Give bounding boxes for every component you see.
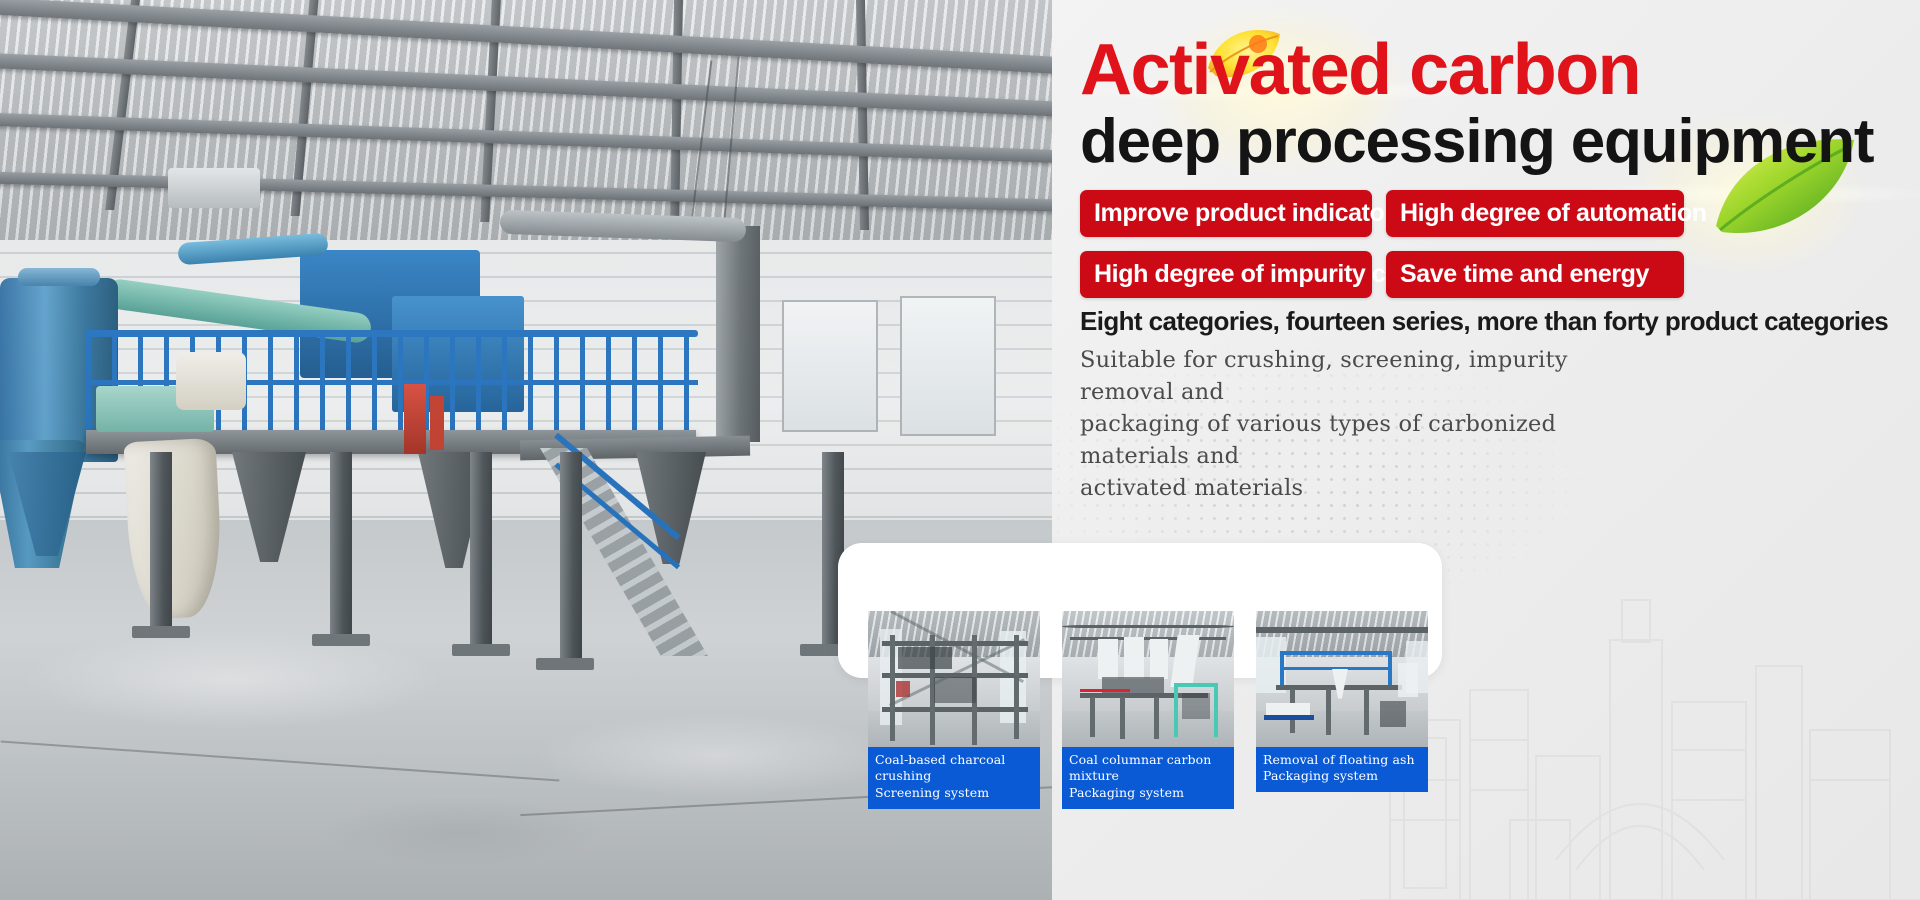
caption-line-1: Removal of floating ash <box>1263 752 1421 769</box>
description-line-1: Suitable for crushing, screening, impuri… <box>1080 345 1660 409</box>
support-column <box>150 452 172 630</box>
gallery-thumbnail-1 <box>868 611 1040 747</box>
column-base <box>312 634 370 646</box>
headline: Activated carbon deep processing equipme… <box>1080 34 1900 175</box>
caption-line-2: Screening system <box>875 785 1033 802</box>
gallery-thumbnail-2 <box>1062 611 1234 747</box>
gallery-caption-3: Removal of floating ash Packaging system <box>1256 747 1428 793</box>
gallery-card: Coal-based charcoal crushing Screening s… <box>838 543 1442 678</box>
feature-badge-improve-product-indicators[interactable]: Improve product indicators <box>1080 190 1372 237</box>
column-base <box>452 644 510 656</box>
description: Suitable for crushing, screening, impuri… <box>1080 345 1660 505</box>
support-column <box>560 452 582 662</box>
headline-line-2: deep processing equipment <box>1080 109 1900 174</box>
column-base <box>132 626 190 638</box>
feature-badge-save-time-and-energy[interactable]: Save time and energy <box>1386 251 1684 298</box>
red-equipment <box>404 384 426 454</box>
skyline-outline-icon <box>1360 570 1920 900</box>
caption-line-1: Coal-based charcoal crushing <box>875 752 1033 786</box>
description-line-2: packaging of various types of carbonized… <box>1080 409 1660 473</box>
headline-line-1: Activated carbon <box>1080 34 1900 107</box>
exhaust-stack <box>716 226 760 442</box>
subtitle: Eight categories, fourteen series, more … <box>1080 306 1900 337</box>
support-column <box>330 452 352 638</box>
caption-line-2: Packaging system <box>1069 785 1227 802</box>
promo-banner: Activated carbon deep processing equipme… <box>0 0 1920 900</box>
caption-line-1: Coal columnar carbon mixture <box>1069 752 1227 786</box>
description-line-3: activated materials <box>1080 473 1660 505</box>
gallery-thumbnail-3 <box>1256 611 1428 747</box>
gallery-caption-1: Coal-based charcoal crushing Screening s… <box>868 747 1040 809</box>
workshop-window <box>900 296 996 436</box>
workshop-window <box>782 300 878 432</box>
column-base <box>536 658 594 670</box>
feature-badge-list: Improve product indicators High degree o… <box>1080 190 1898 298</box>
feature-badge-high-degree-of-impurity-cleaning[interactable]: High degree of impurity cleaning <box>1080 251 1372 298</box>
ceiling-vent <box>168 168 260 208</box>
tank-cap <box>18 268 100 286</box>
feature-badge-high-degree-of-automation[interactable]: High degree of automation <box>1386 190 1684 237</box>
support-column <box>470 452 492 648</box>
material-bag <box>176 352 246 410</box>
caption-line-2: Packaging system <box>1263 768 1421 785</box>
gallery-caption-2: Coal columnar carbon mixture Packaging s… <box>1062 747 1234 809</box>
red-equipment <box>430 396 444 450</box>
